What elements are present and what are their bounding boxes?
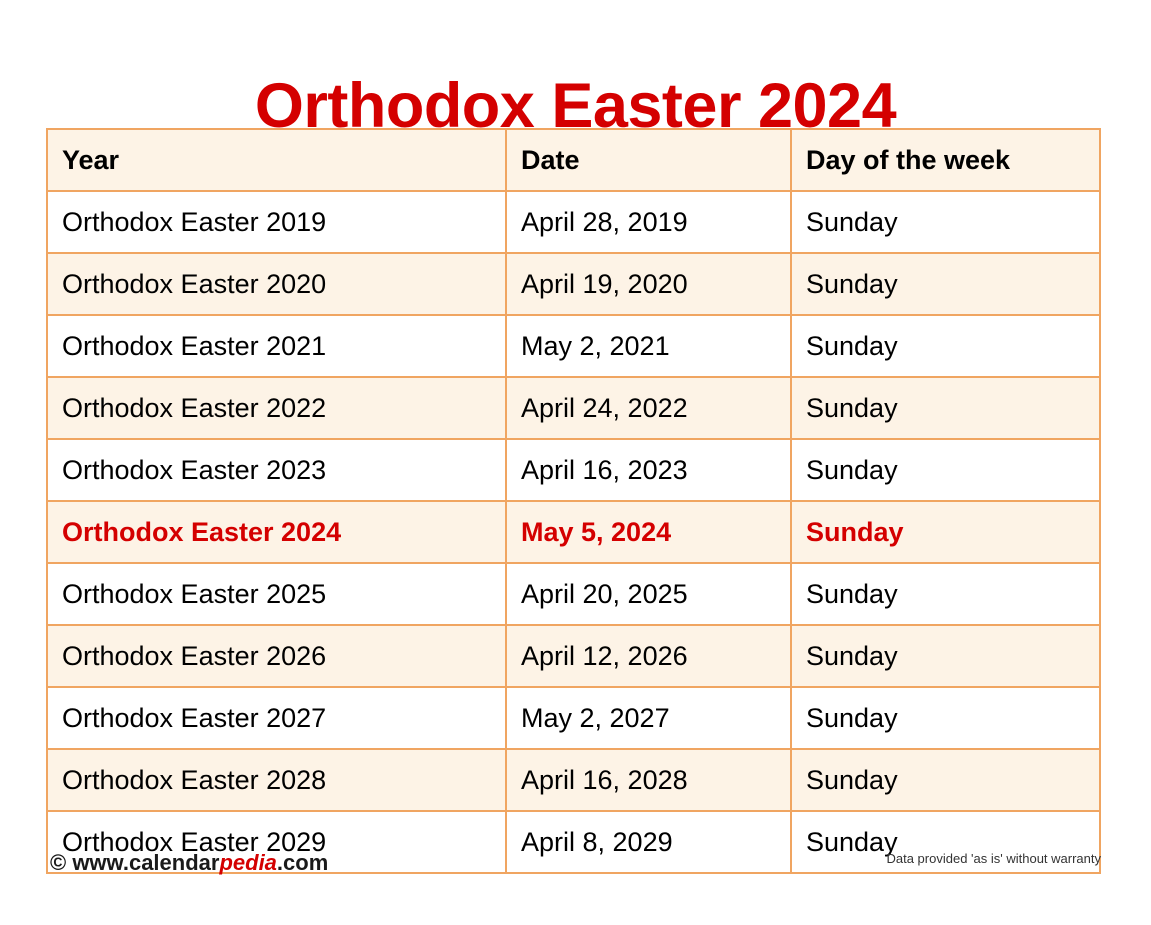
disclaimer-text: Data provided 'as is' without warranty (886, 850, 1101, 868)
table-row: Orthodox Easter 2020April 19, 2020Sunday (47, 253, 1100, 315)
page-footer: © www.calendarpedia.com Data provided 'a… (46, 848, 1101, 882)
cell-year: Orthodox Easter 2020 (47, 253, 506, 315)
cell-day-of-week: Sunday (791, 687, 1100, 749)
copyright-suffix: .com (277, 850, 328, 875)
cell-year: Orthodox Easter 2022 (47, 377, 506, 439)
cell-day-of-week: Sunday (791, 749, 1100, 811)
cell-year: Orthodox Easter 2019 (47, 191, 506, 253)
table-row: Orthodox Easter 2027May 2, 2027Sunday (47, 687, 1100, 749)
cell-date: April 19, 2020 (506, 253, 791, 315)
cell-year: Orthodox Easter 2023 (47, 439, 506, 501)
copyright-prefix: © www.calendar (50, 850, 219, 875)
cell-date: April 16, 2028 (506, 749, 791, 811)
table-row: Orthodox Easter 2021May 2, 2021Sunday (47, 315, 1100, 377)
cell-year: Orthodox Easter 2025 (47, 563, 506, 625)
table-header-row: Year Date Day of the week (47, 129, 1100, 191)
cell-year: Orthodox Easter 2024 (47, 501, 506, 563)
table-row: Orthodox Easter 2022April 24, 2022Sunday (47, 377, 1100, 439)
cell-year: Orthodox Easter 2026 (47, 625, 506, 687)
cell-date: May 2, 2021 (506, 315, 791, 377)
cell-date: April 16, 2023 (506, 439, 791, 501)
calendarpedia-orthodox-easter-page: Orthodox Easter 2024 Year Date Day of th… (0, 0, 1151, 925)
table-row: Orthodox Easter 2028April 16, 2028Sunday (47, 749, 1100, 811)
cell-day-of-week: Sunday (791, 563, 1100, 625)
cell-date: May 5, 2024 (506, 501, 791, 563)
copyright-brand: pedia (219, 850, 276, 875)
cell-day-of-week: Sunday (791, 439, 1100, 501)
cell-date: April 20, 2025 (506, 563, 791, 625)
cell-year: Orthodox Easter 2027 (47, 687, 506, 749)
easter-dates-table: Year Date Day of the week Orthodox Easte… (46, 128, 1101, 874)
cell-day-of-week: Sunday (791, 501, 1100, 563)
table-row: Orthodox Easter 2023April 16, 2023Sunday (47, 439, 1100, 501)
cell-date: April 12, 2026 (506, 625, 791, 687)
cell-day-of-week: Sunday (791, 315, 1100, 377)
column-header-day-of-week: Day of the week (791, 129, 1100, 191)
easter-dates-table-wrapper: Year Date Day of the week Orthodox Easte… (46, 128, 1099, 874)
column-header-year: Year (47, 129, 506, 191)
cell-date: April 28, 2019 (506, 191, 791, 253)
cell-year: Orthodox Easter 2021 (47, 315, 506, 377)
table-body: Orthodox Easter 2019April 28, 2019Sunday… (47, 191, 1100, 873)
copyright-notice: © www.calendarpedia.com (50, 848, 328, 878)
cell-day-of-week: Sunday (791, 191, 1100, 253)
table-row: Orthodox Easter 2026April 12, 2026Sunday (47, 625, 1100, 687)
cell-day-of-week: Sunday (791, 625, 1100, 687)
cell-day-of-week: Sunday (791, 377, 1100, 439)
table-row: Orthodox Easter 2024May 5, 2024Sunday (47, 501, 1100, 563)
column-header-date: Date (506, 129, 791, 191)
cell-day-of-week: Sunday (791, 253, 1100, 315)
table-header: Year Date Day of the week (47, 129, 1100, 191)
cell-year: Orthodox Easter 2028 (47, 749, 506, 811)
table-row: Orthodox Easter 2019April 28, 2019Sunday (47, 191, 1100, 253)
table-row: Orthodox Easter 2025April 20, 2025Sunday (47, 563, 1100, 625)
cell-date: May 2, 2027 (506, 687, 791, 749)
cell-date: April 24, 2022 (506, 377, 791, 439)
